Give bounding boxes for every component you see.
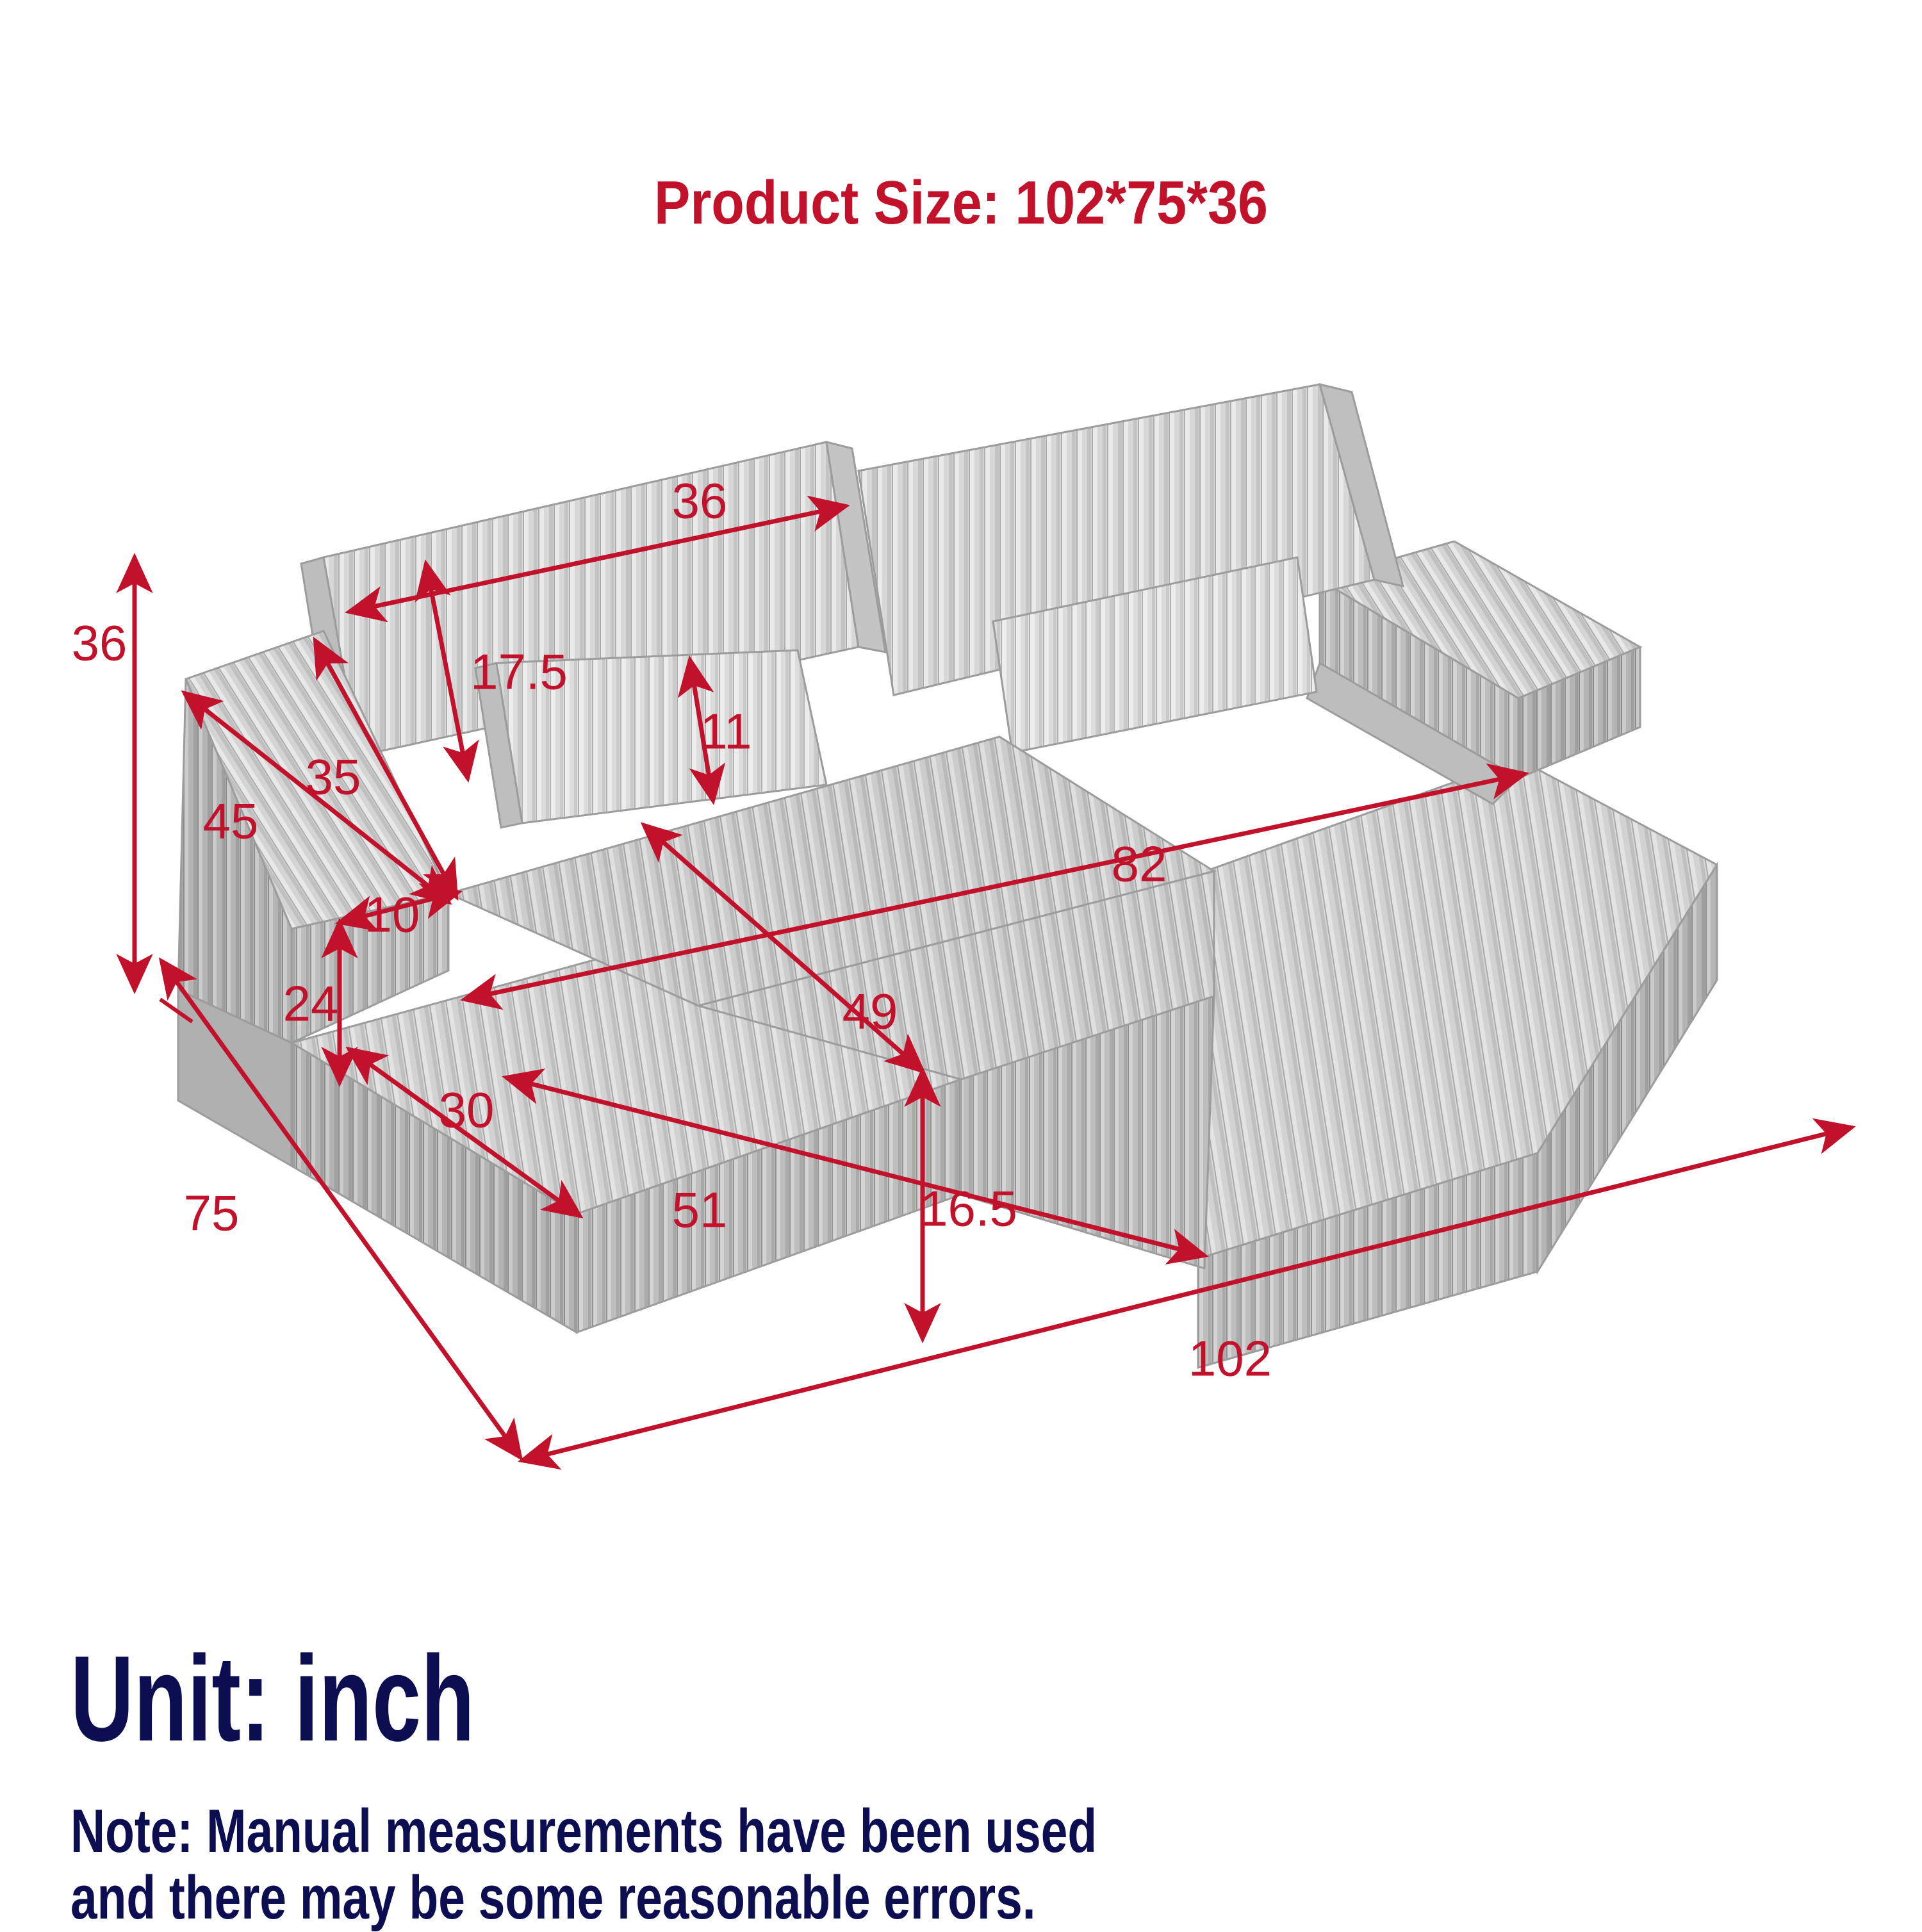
note-block: Note: Manual measurements have been used… bbox=[70, 1798, 1270, 1931]
dimlabel-seat-cushion-height: 16.5 bbox=[920, 1181, 1017, 1237]
note-line-1: Note: Manual measurements have been used bbox=[70, 1798, 1270, 1865]
dimlabel-left-seat-width: 51 bbox=[672, 1182, 728, 1238]
dimlabel-armrest-diagonal: 45 bbox=[203, 793, 259, 849]
diagram-canvas: Product Size: 102*75*36 bbox=[0, 0, 1922, 1922]
chaise-module bbox=[1134, 759, 1717, 1368]
dimlabel-overall-height: 36 bbox=[72, 615, 127, 671]
dimlabel-overall-width: 102 bbox=[1188, 1330, 1272, 1387]
dimlabel-armrest-top-width: 10 bbox=[365, 887, 420, 943]
dimlabel-overall-depth: 75 bbox=[184, 1185, 240, 1241]
dimlabel-pillow-height: 11 bbox=[700, 703, 752, 760]
dimlabel-backrest-height: 17.5 bbox=[470, 644, 568, 700]
dimlabel-backrest-width: 36 bbox=[672, 473, 728, 529]
dimlabel-armrest-height: 24 bbox=[283, 976, 339, 1032]
dimlabel-left-seat-depth: 30 bbox=[439, 1082, 495, 1138]
dimlabel-seat-span: 82 bbox=[1112, 836, 1167, 892]
footer-block: Unit: inch Note: Manual measurements hav… bbox=[70, 1635, 1608, 1931]
unit-label: Unit: inch bbox=[70, 1635, 1178, 1763]
dimlabel-armrest-top-length: 35 bbox=[306, 749, 361, 805]
note-line-2: and there may be some reasonable errors. bbox=[70, 1865, 1270, 1931]
dimlabel-seat-diagonal: 49 bbox=[842, 983, 898, 1040]
